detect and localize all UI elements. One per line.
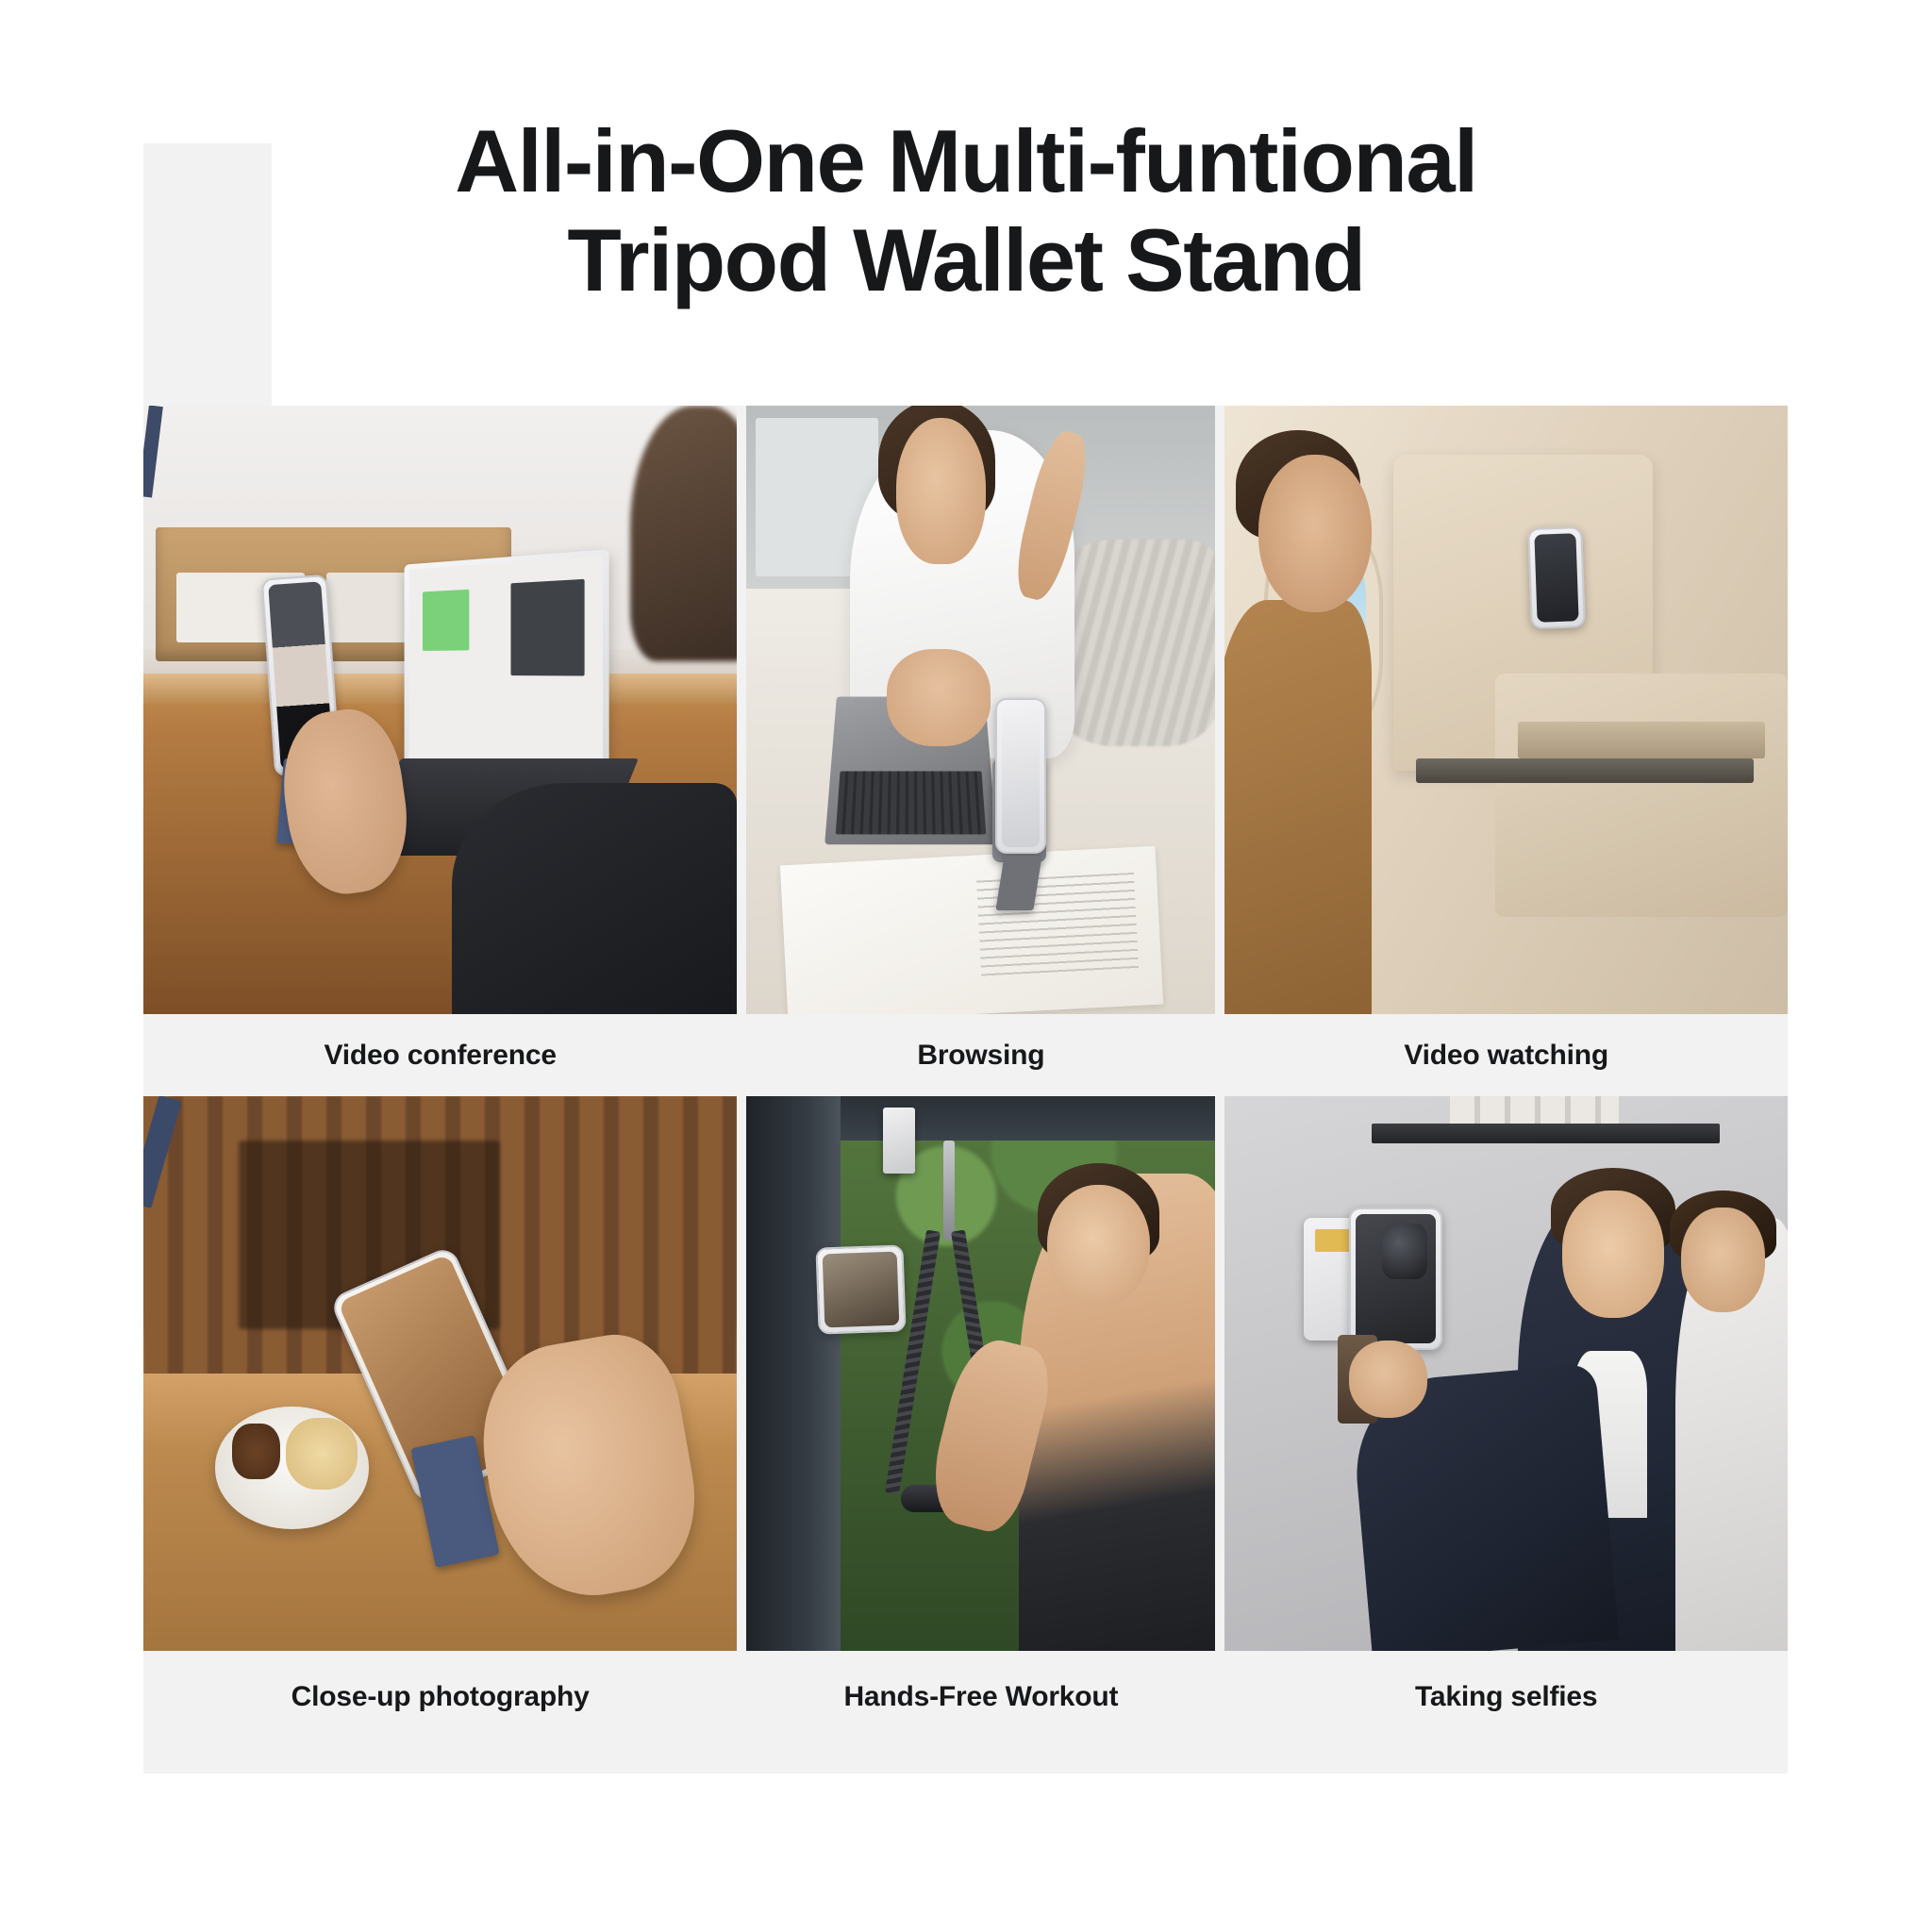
wall-shelf — [1372, 1124, 1721, 1143]
phone-device — [815, 1244, 907, 1334]
screen-panel-dark — [511, 579, 585, 676]
caption-browsing: Browsing — [746, 1014, 1215, 1096]
photo-video-watching — [1224, 406, 1788, 1014]
person-silhouette — [630, 406, 737, 661]
phone-device — [1527, 526, 1585, 629]
photo-video-conference — [143, 406, 737, 1014]
page-title: All-in-One Multi-funtional Tripod Wallet… — [0, 111, 1932, 310]
title-line-2: Tripod Wallet Stand — [0, 210, 1932, 309]
title-line-1: All-in-One Multi-funtional — [0, 111, 1932, 210]
gallery-caption-row: Video conference Browsing Video watching — [143, 1014, 1788, 1096]
phone-mount-clamp — [883, 1108, 916, 1174]
gallery-row — [143, 1096, 1788, 1651]
caption-taking-selfies: Taking selfies — [1224, 1651, 1788, 1804]
phone-screen — [1534, 533, 1578, 623]
photo-taking-selfies — [1224, 1096, 1788, 1651]
paper-documents — [780, 846, 1163, 1014]
gallery-caption-row: Close-up photography Hands-Free Workout … — [143, 1651, 1788, 1804]
photo-hands-free-workout — [746, 1096, 1215, 1651]
caption-video-conference: Video conference — [143, 1014, 737, 1096]
person-secondary-head — [1681, 1207, 1765, 1313]
scone-pastry — [286, 1418, 358, 1490]
gallery-cell-taking-selfies[interactable] — [1224, 1096, 1788, 1651]
person-head — [1562, 1191, 1663, 1318]
screen-note-green — [423, 590, 469, 651]
laptop-screen — [409, 556, 603, 778]
gallery-cell-hands-free-workout[interactable] — [746, 1096, 1215, 1651]
caption-hands-free-workout: Hands-Free Workout — [746, 1651, 1215, 1804]
gallery-cell-browsing[interactable] — [746, 406, 1215, 1014]
caption-video-watching: Video watching — [1224, 1014, 1788, 1096]
person-head — [896, 418, 985, 564]
shelf-boxes — [1450, 1096, 1619, 1126]
phone-screen — [1002, 705, 1040, 847]
chocolate-cake — [232, 1424, 279, 1479]
seat-support-bar — [1416, 758, 1754, 783]
holding-hand — [1349, 1341, 1428, 1418]
suspension-cable — [943, 1141, 955, 1241]
gallery-row — [143, 406, 1788, 1014]
passenger-head — [1258, 455, 1371, 613]
person-sleeve — [452, 783, 737, 1014]
laptop-keyboard — [836, 771, 986, 834]
caption-close-up-photography: Close-up photography — [143, 1651, 737, 1804]
passenger-jacket — [1224, 600, 1371, 1014]
laptop-device — [405, 550, 609, 786]
gallery-cell-video-watching[interactable] — [1224, 406, 1788, 1014]
door-frame — [746, 1096, 840, 1651]
tray-table — [1518, 722, 1765, 758]
use-case-gallery: Video conference Browsing Video watching — [143, 406, 1788, 1804]
typing-hands — [887, 649, 990, 746]
photo-close-up-photography — [143, 1096, 737, 1651]
phone-device — [995, 698, 1046, 854]
camera-lens-module — [1382, 1224, 1427, 1279]
photo-browsing — [746, 406, 1215, 1014]
gallery-cell-close-up-photography[interactable] — [143, 1096, 737, 1651]
gallery-cell-video-conference[interactable] — [143, 406, 737, 1014]
person-head — [1047, 1185, 1150, 1307]
phone-screen — [823, 1251, 900, 1327]
airplane-seat-row — [1495, 674, 1788, 917]
